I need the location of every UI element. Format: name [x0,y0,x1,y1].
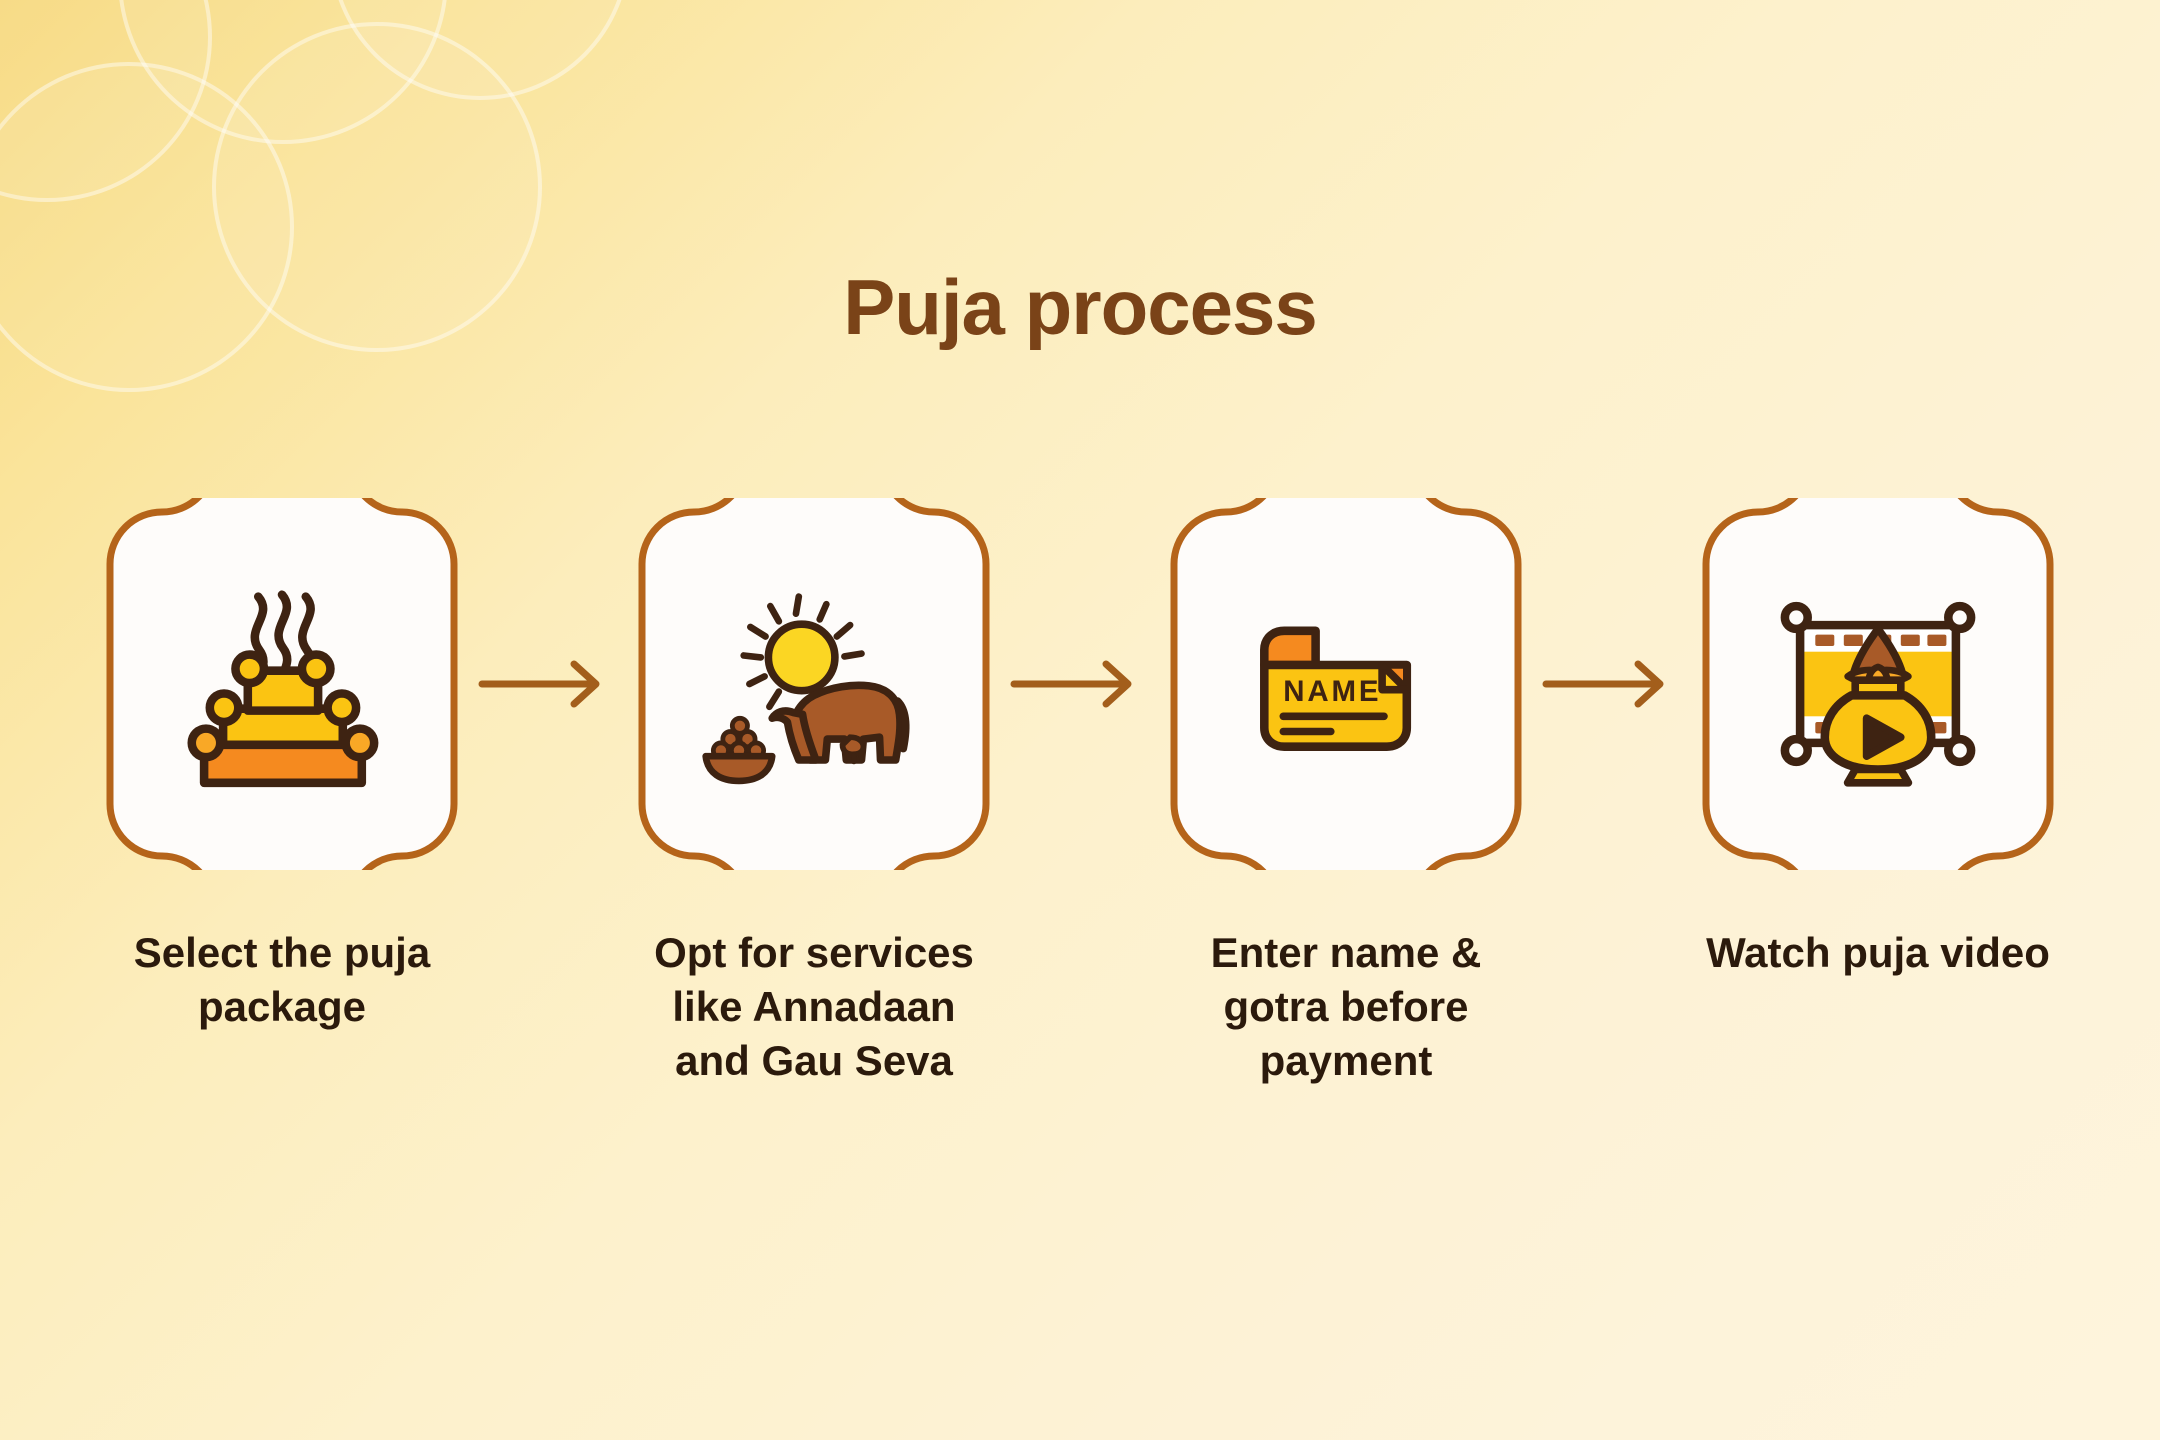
step-caption-3: Enter name & gotra before payment [1170,926,1522,1087]
name-card-label: NAME [1283,675,1381,708]
process-step-1: Select the puja package [96,498,468,1034]
step-caption-4: Watch puja video [1702,926,2054,980]
process-step-2: Opt for services like Annadaan and Gau S… [628,498,1000,1087]
connector-1 [468,498,628,870]
decorative-circle [0,0,212,202]
puja-thali-steam-icon [96,498,468,870]
name-card-icon: NAME [1160,498,1532,870]
step-caption-1: Select the puja package [106,926,458,1034]
gau-seva-cow-sun-icon [628,498,1000,870]
decorative-circle [330,0,630,100]
connector-3 [1532,498,1692,870]
infographic-canvas: Puja process [0,0,2160,1440]
decorative-circle [118,0,448,144]
process-step-4: Watch puja video [1692,498,2064,980]
step-card-4[interactable] [1692,498,2064,870]
step-card-1[interactable] [96,498,468,870]
step-caption-2: Opt for services like Annadaan and Gau S… [638,926,990,1087]
step-card-2[interactable] [628,498,1000,870]
arrow-right-icon [1010,656,1150,712]
connector-2 [1000,498,1160,870]
process-steps-row: Select the puja package [0,498,2160,1087]
puja-video-kalash-icon [1692,498,2064,870]
process-step-3: NAME Enter name & gotra before payment [1160,498,1532,1087]
arrow-right-icon [478,656,618,712]
arrow-right-icon [1542,656,1682,712]
step-card-3[interactable]: NAME [1160,498,1532,870]
page-title: Puja process [0,262,2160,353]
